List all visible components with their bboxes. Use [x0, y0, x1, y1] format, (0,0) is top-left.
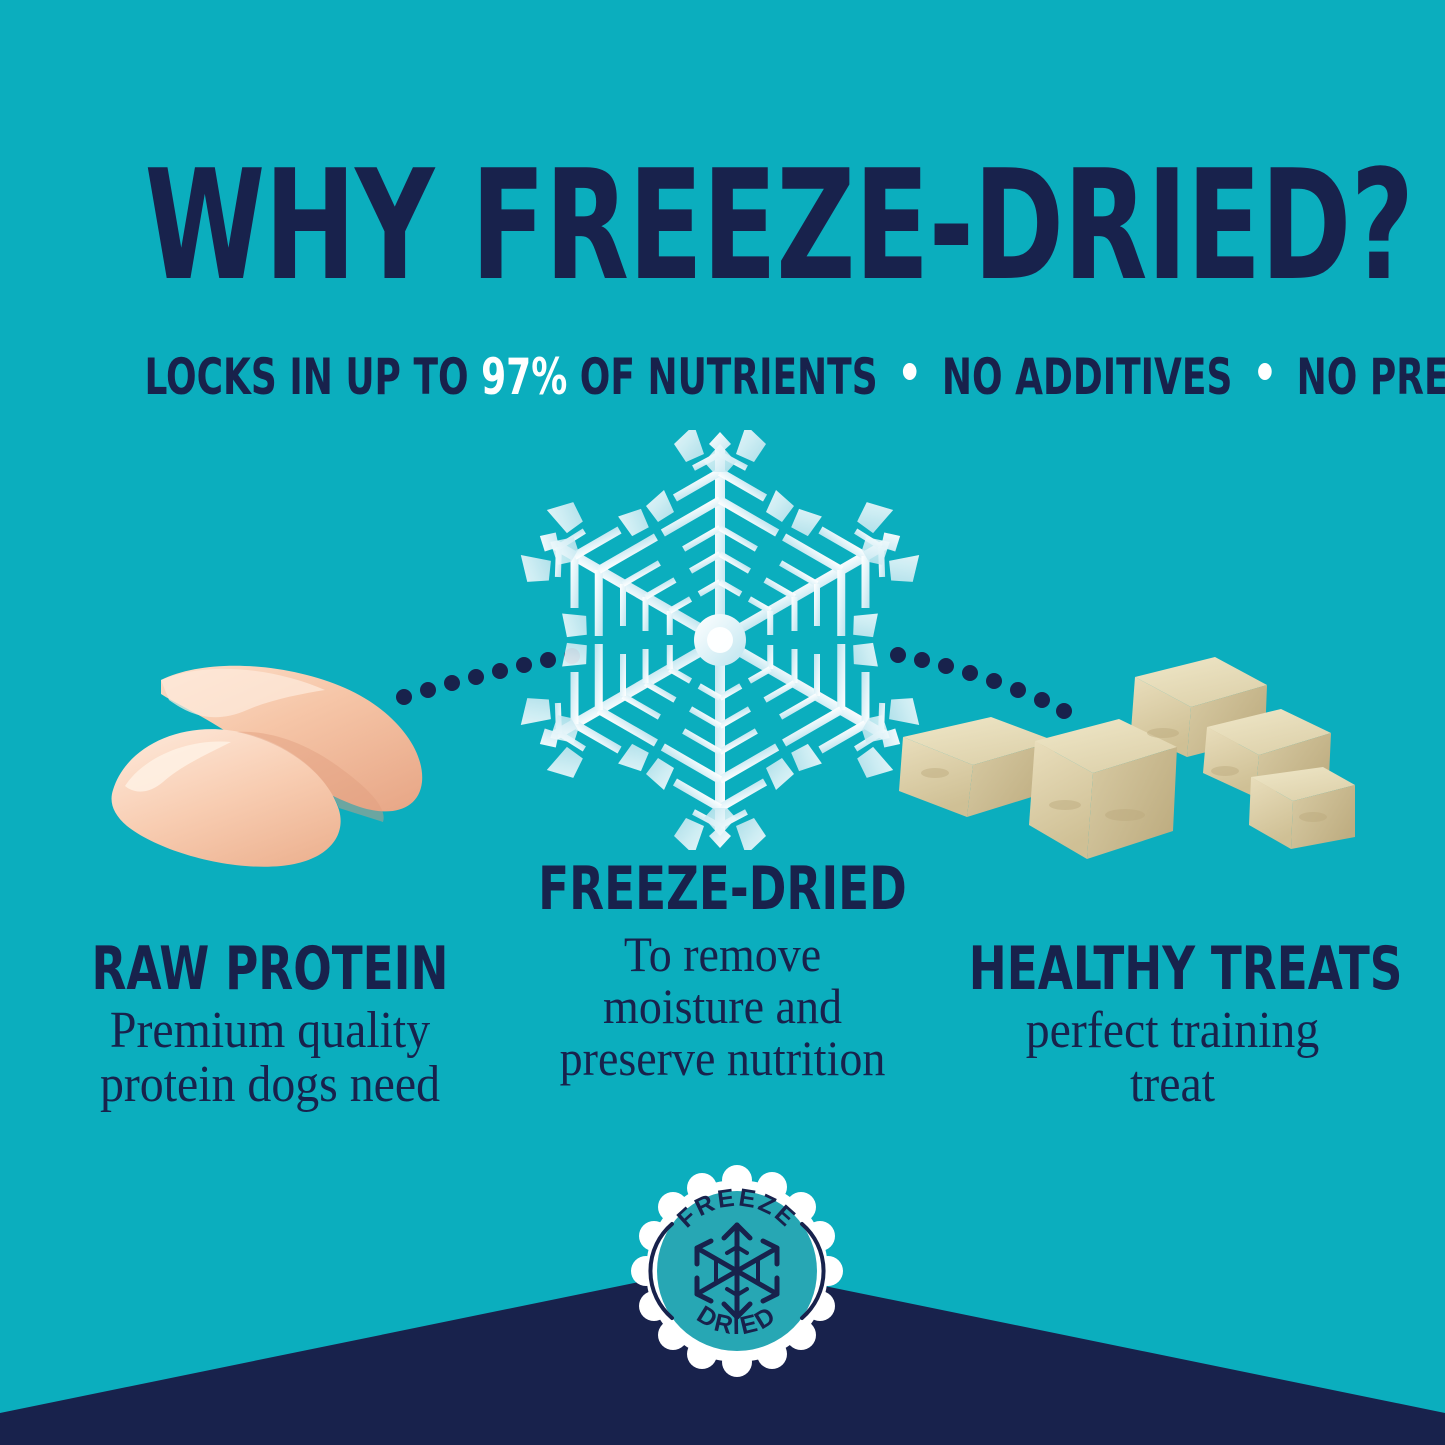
body-line: protein dogs need	[100, 1056, 440, 1113]
body-line: Premium quality	[110, 1002, 430, 1059]
body-line: perfect training	[1026, 1002, 1320, 1059]
subtitle-part-4: NO PRESERVATIVES	[1297, 348, 1445, 406]
body-line: treat	[1130, 1056, 1215, 1113]
column-body-healthy-treats: perfect training treat	[949, 1004, 1395, 1112]
feature-column-healthy-treats: HEALTHY TREATS perfect training treat	[930, 938, 1415, 1113]
freeze-dried-badge: FREEZE DRIED	[628, 1162, 846, 1380]
column-body-raw-protein: Premium quality protein dogs need	[40, 1004, 500, 1112]
white-dot-separator-icon	[1258, 363, 1272, 380]
body-line: moisture and	[603, 978, 842, 1034]
page-subtitle: LOCKS IN UP TO 97% OF NUTRIENTS NO ADDIT…	[145, 352, 1301, 402]
feature-column-raw-protein: RAW PROTEIN Premium quality protein dogs…	[20, 938, 520, 1113]
snowflake-crystal-image	[505, 430, 935, 850]
body-line: To remove	[624, 926, 821, 982]
subtitle-part-3: NO ADDITIVES	[942, 348, 1233, 406]
page-title: WHY FREEZE-DRIED?	[145, 150, 1301, 302]
column-heading-freeze-dried: FREEZE-DRIED	[519, 858, 926, 920]
subtitle-part-1: LOCKS IN UP TO	[145, 348, 469, 406]
nutrient-percent-value: 97%	[481, 348, 567, 406]
body-line: preserve nutrition	[560, 1030, 886, 1086]
column-heading-healthy-treats: HEALTHY TREATS	[969, 938, 1376, 1000]
subtitle-part-2: OF NUTRIENTS	[580, 348, 878, 406]
column-body-freeze-dried: To remove moisture and preserve nutritio…	[499, 928, 945, 1084]
column-heading-raw-protein: RAW PROTEIN	[60, 938, 480, 1000]
freeze-dried-chicken-cubes-image	[895, 645, 1355, 890]
raw-chicken-breast-image	[95, 650, 490, 895]
feature-column-freeze-dried: FREEZE-DRIED To remove moisture and pres…	[480, 858, 965, 1084]
white-dot-separator-icon	[903, 363, 917, 380]
